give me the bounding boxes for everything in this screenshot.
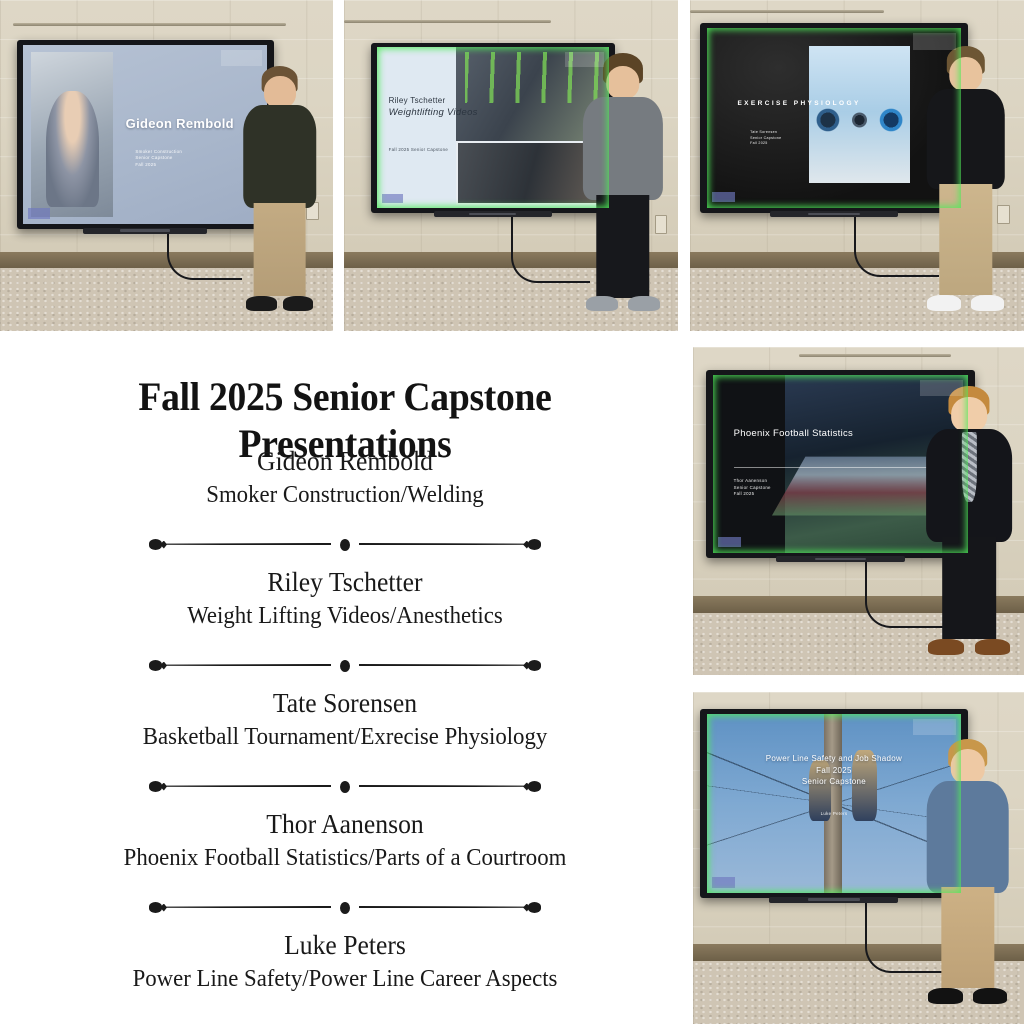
display-soundbar [434,211,551,216]
slide-subtitle-line: Fall 2025 [750,141,781,146]
torso-quarterzip [926,781,1009,893]
slide-title-line2: Fall 2025 [737,765,931,777]
slide-subtitle: Fall 2025 Senior Capstone [389,147,449,154]
divider-bar-right [359,785,529,787]
shoe-right [973,988,1007,1004]
divider-bar-left [161,664,331,666]
presenter-projects: Phoenix Football Statistics/Parts of a C… [17,845,673,872]
slide-subtitle: Smoker Construction Senior Capstone Fall… [135,149,182,169]
divider-center-dot [340,902,350,914]
ornament-divider [145,778,545,794]
divider-bar-right [359,664,529,666]
slide-page-badge [712,192,735,203]
shoe-left [586,296,618,311]
slide-title-line3: Senior Capstone [737,776,931,788]
poster-canvas: Gideon Rembold Smoker Construction Senio… [0,0,1024,1024]
slide-presenter-name: Luke Peters [796,811,872,818]
slide-luke-peters: Power Line Safety and Job Shadow Fall 20… [707,714,962,894]
photo-thor-aanenson: Phoenix Football Statistics Thor Aanenso… [693,347,1024,675]
legs-pants [943,537,997,639]
presenter-projects: Weight Lifting Videos/Anesthetics [17,603,673,630]
display-soundbar [776,556,905,562]
necktie [962,432,976,502]
slide-brand-logo [920,380,963,396]
slide-portrait-photo [31,52,114,217]
slide-title: Gideon Rembold [126,116,234,132]
shoe-right [283,296,313,311]
slide-title-text: Power Line Safety and Job Shadow [737,753,931,765]
presenter-figure [581,53,665,311]
slide-title-italic: Weightlifting Videos [389,107,478,119]
display-soundbar [770,211,899,217]
ornament-divider [145,899,545,915]
list-item: Luke Peters Power Line Safety/Power Line… [0,931,690,993]
slide-riley-tschetter: Riley Tschetter Weightlifting Videos Fal… [377,47,609,208]
torso-shirt [926,89,1004,190]
wall-display: Gideon Rembold Smoker Construction Senio… [17,40,274,229]
slide-dumbbell-photo [809,46,911,183]
legs-pants [941,887,994,988]
wall-display: Riley Tschetter Weightlifting Videos Fal… [371,43,615,213]
display-soundbar [83,228,206,234]
wall-rail [690,10,884,13]
slide-subtitle-line: Thor Aanenson [734,478,771,485]
list-item: Thor Aanenson Phoenix Football Statistic… [0,810,690,872]
presenter-name: Gideon Rembold [17,447,673,477]
photo-riley-tschetter: Riley Tschetter Weightlifting Videos Fal… [344,0,678,331]
display-soundbar [769,897,898,903]
presenter-name: Luke Peters [17,931,673,961]
divider-bar-left [161,785,331,787]
head [264,76,296,108]
head [951,749,985,784]
divider-center-dot [340,660,350,672]
presentation-list-panel: Fall 2025 Senior Capstone Presentations … [0,331,690,1024]
presenter-figure [924,46,1008,311]
slide-screen: Gideon Rembold Smoker Construction Senio… [23,45,267,225]
photo-tate-sorensen: EXERCISE PHYSIOLOGY Tate Sorensen Senior… [690,0,1024,331]
divider-center-dot [340,539,350,551]
slide-brand-logo [913,719,956,735]
slide-subtitle-line: Smoker Construction [135,149,182,156]
legs-pants [253,203,306,296]
slide-page-badge [382,194,403,204]
divider-bar-right [359,906,529,908]
shoe-left [928,988,962,1004]
slide-subtitle-line: Fall 2025 [135,162,182,169]
presenter-name: Thor Aanenson [17,810,673,840]
list-item: Riley Tschetter Weight Lifting Videos/An… [0,568,690,630]
wall-rail [799,354,951,357]
divider-bar-left [161,543,331,545]
torso-shirt [583,97,663,200]
divider-bar-right [359,543,529,545]
legs-pants [939,184,992,295]
shoe-left [928,639,964,655]
slide-title: Phoenix Football Statistics [734,428,854,440]
divider-center-dot [340,781,350,793]
divider-bar-left [161,906,331,908]
slide-subtitle-line: Senior Capstone [135,155,182,162]
slide-screen: Riley Tschetter Weightlifting Videos Fal… [377,47,609,208]
torso-shirt [243,105,317,208]
slide-brand-logo [565,52,604,66]
slide-subtitle-line: Fall 2025 Senior Capstone [389,147,449,154]
wall-rail [13,23,286,26]
slide-subtitle-line: Senior Capstone [734,485,771,492]
ornament-divider [145,657,545,673]
slide-title: Riley Tschetter Weightlifting Videos [389,96,478,119]
slide-subtitle: Thor Aanenson Senior Capstone Fall 2025 [734,478,771,498]
shoe-right [975,639,1011,655]
slide-page-badge [28,208,50,219]
slide-title: EXERCISE PHYSIOLOGY [737,100,860,108]
list-item: Gideon Rembold Smoker Construction/Weldi… [0,447,690,509]
slide-brand-logo [221,50,262,66]
wall-rail [344,20,551,23]
head [606,66,639,100]
shoe-right [628,296,660,311]
slide-screen: Power Line Safety and Job Shadow Fall 20… [707,714,962,894]
ornament-divider [145,536,545,552]
presenter-projects: Power Line Safety/Power Line Career Aspe… [17,966,673,993]
shoe-left [927,295,960,311]
slide-page-badge [718,537,741,548]
head [951,397,987,432]
legs-pants [596,195,649,298]
list-item: Tate Sorensen Basketball Tournament/Exre… [0,689,690,751]
presenter-projects: Smoker Construction/Welding [17,482,673,509]
slide-brand-logo [913,33,956,49]
photo-gideon-rembold: Gideon Rembold Smoker Construction Senio… [0,0,333,331]
slide-title: Power Line Safety and Job Shadow Fall 20… [737,753,931,788]
presenter-projects: Basketball Tournament/Exrecise Physiolog… [17,724,673,751]
slide-subtitle: Tate Sorensen Senior Capstone Fall 2025 [750,130,781,146]
slide-title-text: Riley Tschetter [389,96,446,105]
photo-luke-peters: Power Line Safety and Job Shadow Fall 20… [693,692,1024,1024]
presenter-figure [925,739,1011,1005]
head [949,57,982,91]
shoe-right [971,295,1004,311]
slide-subtitle-line: Fall 2025 [734,491,771,498]
presenter-name: Tate Sorensen [17,689,673,719]
presenter-figure [925,386,1014,655]
shoe-left [246,296,276,311]
presenter-figure [240,66,320,311]
slide-gideon-rembold: Gideon Rembold Smoker Construction Senio… [23,45,267,225]
slide-page-badge [712,877,735,888]
slide-divider-rule [734,467,948,468]
presenter-name: Riley Tschetter [17,568,673,598]
